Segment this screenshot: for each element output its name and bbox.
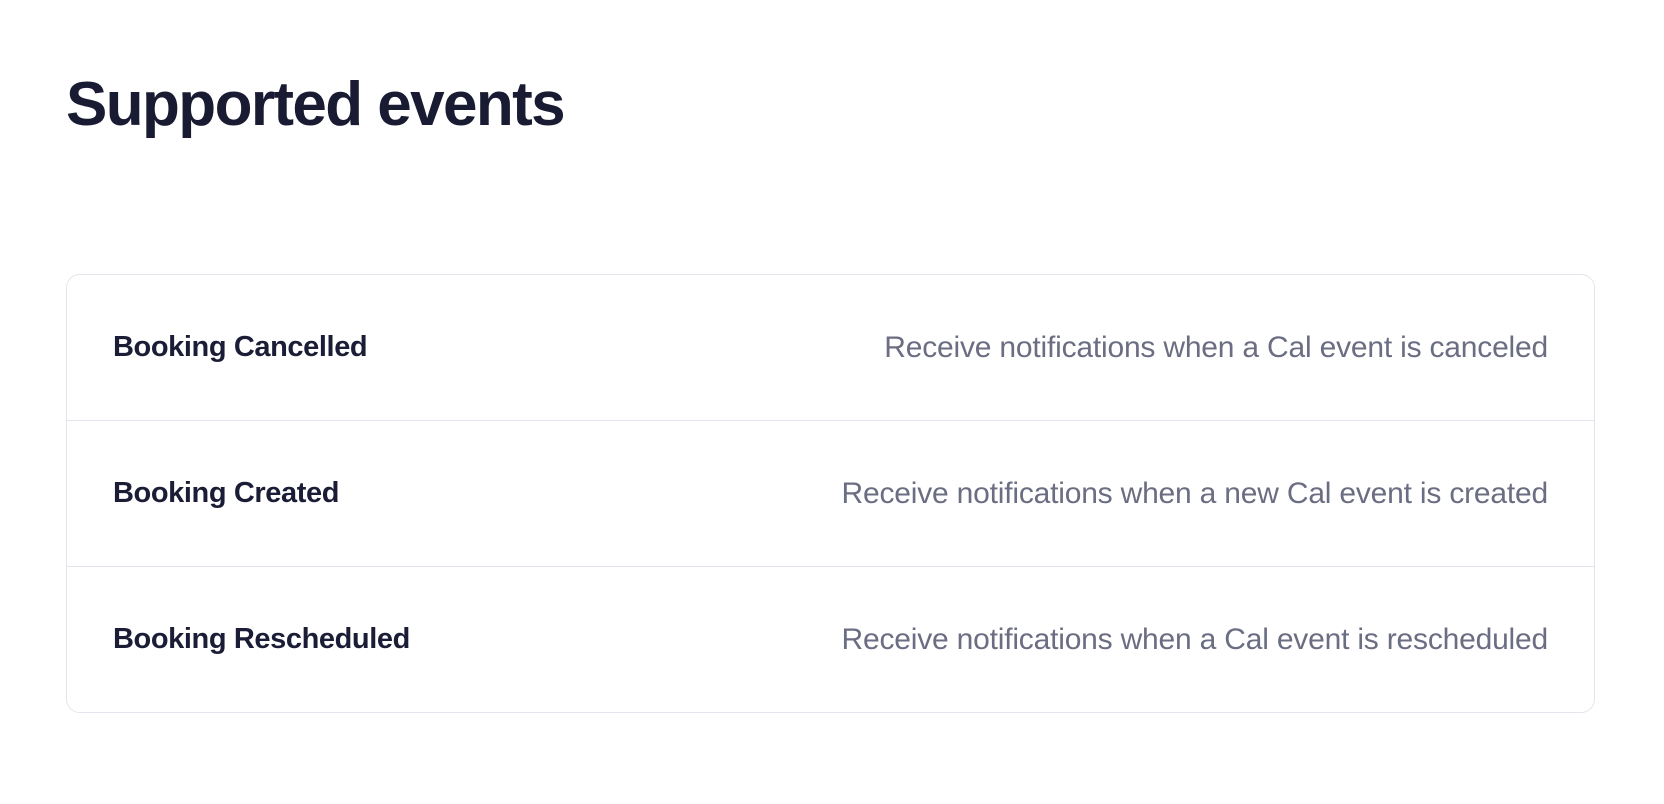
- event-row-booking-cancelled[interactable]: Booking Cancelled Receive notifications …: [67, 275, 1594, 421]
- event-name: Booking Cancelled: [113, 331, 668, 364]
- event-description: Receive notifications when a new Cal eve…: [668, 477, 1548, 511]
- event-name: Booking Rescheduled: [113, 623, 668, 656]
- event-row-booking-created[interactable]: Booking Created Receive notifications wh…: [67, 421, 1594, 567]
- event-description: Receive notifications when a Cal event i…: [668, 331, 1548, 365]
- event-row-booking-rescheduled[interactable]: Booking Rescheduled Receive notification…: [67, 567, 1594, 712]
- event-description: Receive notifications when a Cal event i…: [668, 623, 1548, 657]
- page-root: Supported events Booking Cancelled Recei…: [0, 0, 1664, 804]
- supported-events-card: Booking Cancelled Receive notifications …: [66, 274, 1595, 713]
- page-title: Supported events: [66, 72, 564, 137]
- event-name: Booking Created: [113, 477, 668, 510]
